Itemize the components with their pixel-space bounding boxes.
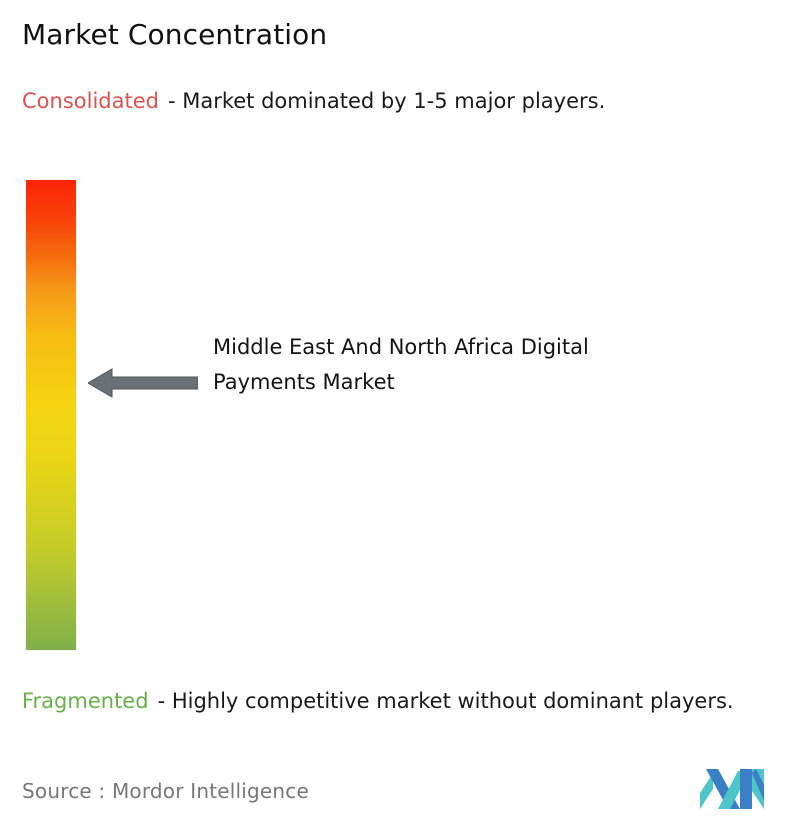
source-attribution: Source : Mordor Intelligence <box>22 779 309 803</box>
legend-fragmented: Fragmented- Highly competitive market wi… <box>22 686 782 718</box>
legend-fragmented-keyword: Fragmented <box>22 689 149 713</box>
gradient-bar-fill <box>26 180 76 650</box>
page-title: Market Concentration <box>22 19 327 51</box>
market-marker-group: Middle East And North Africa Digital Pay… <box>88 330 648 440</box>
mordor-intelligence-logo <box>700 767 770 813</box>
market-marker-label: Middle East And North Africa Digital Pay… <box>213 330 593 401</box>
concentration-gradient-bar <box>26 180 76 650</box>
market-concentration-chart: Market Concentration Consolidated- Marke… <box>0 0 796 834</box>
legend-fragmented-description: - Highly competitive market without domi… <box>158 689 734 713</box>
legend-consolidated: Consolidated- Market dominated by 1-5 ma… <box>22 86 764 118</box>
left-arrow-icon <box>88 366 198 404</box>
legend-consolidated-description: - Market dominated by 1-5 major players. <box>168 89 605 113</box>
legend-consolidated-keyword: Consolidated <box>22 89 159 113</box>
